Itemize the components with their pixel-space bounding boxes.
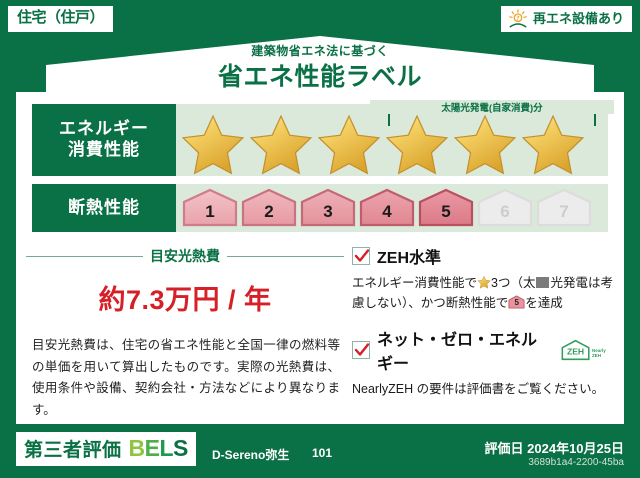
bels-plate: 第三者評価 B E L S (16, 432, 196, 466)
insulation-level-number: 5 (418, 188, 474, 228)
evaluation-id: 3689b1a4-2200-45ba (528, 457, 624, 468)
insulation-level-scale: 1 2 (176, 188, 592, 228)
zeh-desc-part4: を達成 (525, 296, 563, 310)
insulation-performance-label: 断熱性能 (32, 184, 176, 232)
svg-text:ZEH: ZEH (567, 346, 584, 356)
zeh-logo-sub: Nearly ZEH (592, 349, 614, 362)
net-zero-description: NearlyZEH の要件は評価書をご覧ください。 (352, 379, 614, 399)
insulation-performance-row: 断熱性能 1 (32, 184, 608, 232)
energy-label-line2: 消費性能 (68, 140, 140, 161)
zeh-desc-part2: 3つ（太 (491, 276, 535, 290)
obscured-character (536, 277, 549, 288)
energy-label-line1: エネルギー (59, 119, 149, 140)
housing-type-badge: 住宅（住戸） (8, 6, 113, 32)
star-icon (477, 275, 491, 289)
insulation-level-7: 7 (536, 188, 592, 228)
energy-performance-label: 住宅（住戸） ｱ 再エネ設備あり 建築物省エネ法に基づく 省エネ性能ラベル (0, 0, 640, 478)
energy-performance-label: エネルギー 消費性能 (32, 104, 176, 176)
insulation-level-6: 6 (477, 188, 533, 228)
zeh-standard-title-row: ZEH水準 (352, 244, 614, 268)
insulation-level-1: 1 (182, 188, 238, 228)
sun-icon: ｱ (507, 9, 529, 29)
utility-cost-value: 約7.3万円 / 年 (26, 278, 344, 317)
evaluation-date: 評価日 2024年10月25日 (485, 438, 624, 457)
energy-rating-area: 太陽光発電(自家消費)分 (176, 104, 608, 176)
net-zero-title: ネット・ゼロ・エネルギー (377, 326, 553, 374)
bels-letter-b: B (129, 435, 145, 462)
insulation-label-text: 断熱性能 (68, 198, 140, 219)
utility-cost-note: 目安光熱費は、住宅の省エネ性能と全国一律の燃料等の単価を用いて算出したものです。… (26, 335, 344, 421)
bels-logo: B E L S (129, 435, 188, 462)
building-name: D-Sereno弥生 (212, 446, 289, 463)
insulation-level-number: 7 (536, 188, 592, 228)
solar-caption: 太陽光発電(自家消費)分 (370, 100, 614, 114)
heading-rule-right (227, 256, 344, 257)
utility-cost-heading: 目安光熱費 (26, 246, 344, 266)
svg-text:ｱ: ｱ (517, 15, 520, 22)
renewable-energy-label: 再エネ設備あり (533, 12, 624, 26)
insulation-level-2: 2 (241, 188, 297, 228)
star-icon (248, 113, 314, 175)
insulation-level-number: 6 (477, 188, 533, 228)
utility-cost-heading-text: 目安光熱費 (150, 246, 220, 266)
checkbox-checked (352, 341, 370, 359)
insulation-level-number: 4 (359, 188, 415, 228)
inline-house-level: 5 (508, 295, 525, 309)
insulation-level-3: 3 (300, 188, 356, 228)
heading-rule-left (26, 256, 143, 257)
zeh-standard-block: ZEH水準 エネルギー消費性能で3つ（太光発電は考慮しない）、かつ断熱性能で5を… (352, 244, 614, 314)
check-icon (354, 248, 370, 264)
insulation-level-number: 3 (300, 188, 356, 228)
inline-house-badge: 5 (508, 295, 525, 309)
third-party-evaluation-label: 第三者評価 (24, 435, 122, 462)
checkbox-checked (352, 247, 370, 265)
header-title: 省エネ性能ラベル (0, 57, 640, 93)
energy-performance-row: エネルギー 消費性能 太陽光発電(自家消費)分 (32, 104, 608, 176)
zeh-standard-title: ZEH水準 (377, 244, 441, 268)
insulation-level-number: 2 (241, 188, 297, 228)
insulation-level-number: 1 (182, 188, 238, 228)
zeh-logo: ZEH Nearly ZEH (560, 338, 614, 362)
housing-type-label: 住宅（住戸） (17, 9, 104, 26)
certification-column: ZEH水準 エネルギー消費性能で3つ（太光発電は考慮しない）、かつ断熱性能で5を… (352, 244, 614, 411)
lower-section: 目安光熱費 約7.3万円 / 年 目安光熱費は、住宅の省エネ性能と全国一律の燃料… (16, 240, 624, 424)
utility-cost-column: 目安光熱費 約7.3万円 / 年 目安光熱費は、住宅の省エネ性能と全国一律の燃料… (26, 240, 344, 421)
star-icon (180, 113, 246, 175)
check-icon (354, 342, 370, 358)
star-icon (316, 113, 382, 175)
zeh-house-icon: ZEH (560, 338, 591, 362)
label-body: エネルギー 消費性能 太陽光発電(自家消費)分 (16, 92, 624, 424)
net-zero-title-row: ネット・ゼロ・エネルギー ZEH Nearly ZEH (352, 326, 614, 374)
bels-letter-l: L (159, 435, 173, 462)
net-zero-energy-block: ネット・ゼロ・エネルギー ZEH Nearly ZEH NearlyZEH の要… (352, 326, 614, 399)
solar-bracket (388, 112, 596, 126)
zeh-standard-description: エネルギー消費性能で3つ（太光発電は考慮しない）、かつ断熱性能で5を達成 (352, 273, 614, 314)
footer-band: 第三者評価 B E L S D-Sereno弥生 101 評価日 2024年10… (0, 424, 640, 478)
insulation-rating-area: 1 2 (176, 184, 608, 232)
bels-letter-e: E (145, 435, 160, 462)
unit-number: 101 (312, 446, 332, 460)
insulation-level-5: 5 (418, 188, 474, 228)
bels-letter-s: S (173, 435, 188, 462)
insulation-level-4: 4 (359, 188, 415, 228)
zeh-desc-part1: エネルギー消費性能で (352, 276, 477, 290)
renewable-energy-badge: ｱ 再エネ設備あり (501, 6, 632, 32)
